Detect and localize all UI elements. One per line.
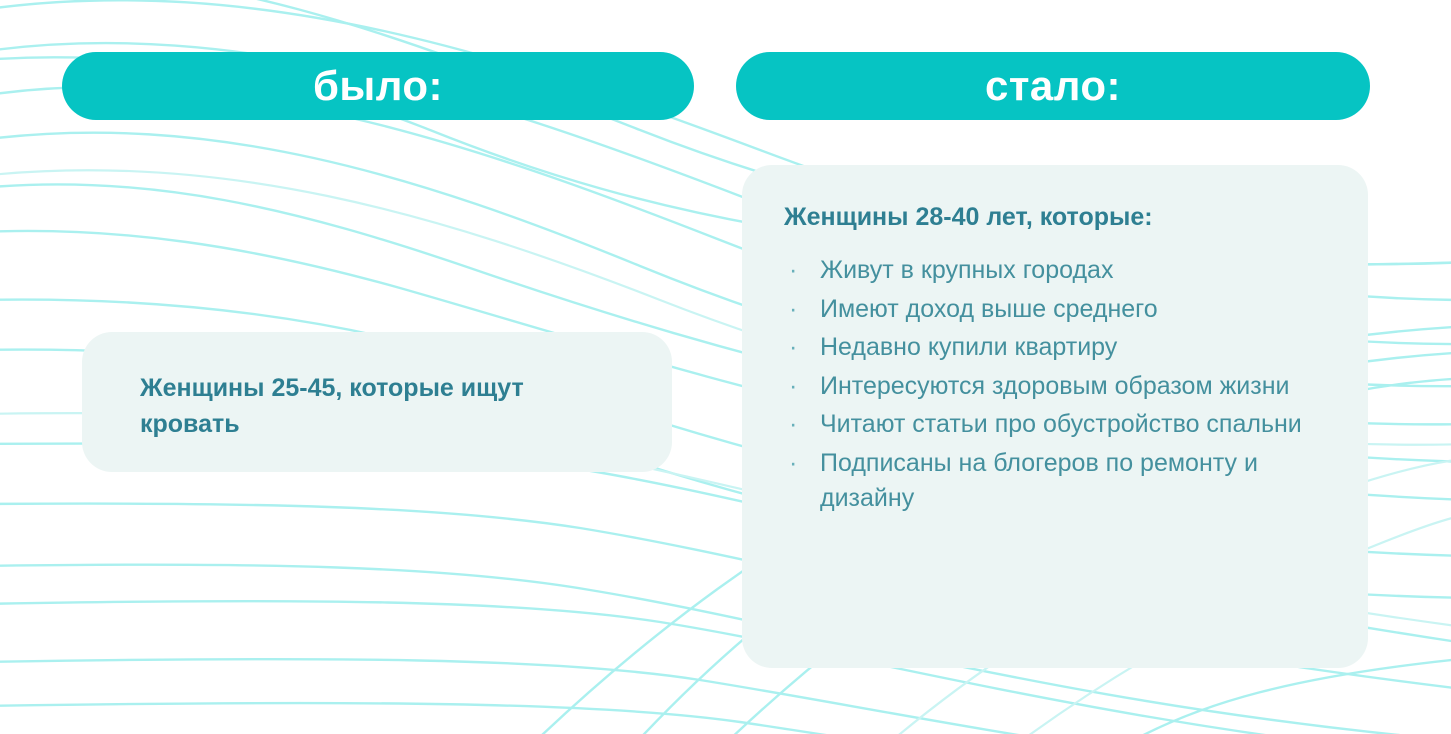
- list-item: ·Недавно купили квартиру: [784, 330, 1332, 366]
- list-item: ·Интересуются здоровым образом жизни: [784, 369, 1332, 405]
- bullet-dot-icon: ·: [789, 292, 797, 328]
- list-item: ·Имеют доход выше среднего: [784, 292, 1332, 328]
- before-header-label: было:: [313, 65, 443, 107]
- bullet-dot-icon: ·: [789, 330, 797, 366]
- before-card-heading: Женщины 25-45, которые ищут кровать: [140, 370, 600, 443]
- list-item: ·Подписаны на блогеров по ремонту и диза…: [784, 446, 1332, 517]
- bullet-dot-icon: ·: [789, 407, 797, 443]
- bullet-dot-icon: ·: [789, 369, 797, 405]
- before-header-pill[interactable]: было:: [62, 52, 694, 120]
- list-item-label: Подписаны на блогеров по ремонту и дизай…: [820, 449, 1258, 513]
- after-card-bullet-list: ·Живут в крупных городах·Имеют доход выш…: [784, 253, 1332, 517]
- list-item: ·Читают статьи про обустройство спальни: [784, 407, 1332, 443]
- before-content-card: Женщины 25-45, которые ищут кровать: [82, 332, 672, 472]
- list-item-label: Интересуются здоровым образом жизни: [820, 372, 1290, 400]
- after-content-card: Женщины 28-40 лет, которые: ·Живут в кру…: [742, 165, 1368, 668]
- list-item: ·Живут в крупных городах: [784, 253, 1332, 289]
- after-card-heading: Женщины 28-40 лет, которые:: [784, 199, 1332, 235]
- after-header-label: стало:: [985, 65, 1121, 107]
- bullet-dot-icon: ·: [789, 253, 797, 289]
- slide-canvas: было: стало: Женщины 25-45, которые ищут…: [0, 0, 1451, 734]
- bullet-dot-icon: ·: [789, 446, 797, 482]
- list-item-label: Имеют доход выше среднего: [820, 295, 1158, 323]
- after-header-pill[interactable]: стало:: [736, 52, 1370, 120]
- list-item-label: Недавно купили квартиру: [820, 333, 1117, 361]
- list-item-label: Живут в крупных городах: [820, 256, 1113, 284]
- list-item-label: Читают статьи про обустройство спальни: [820, 410, 1302, 438]
